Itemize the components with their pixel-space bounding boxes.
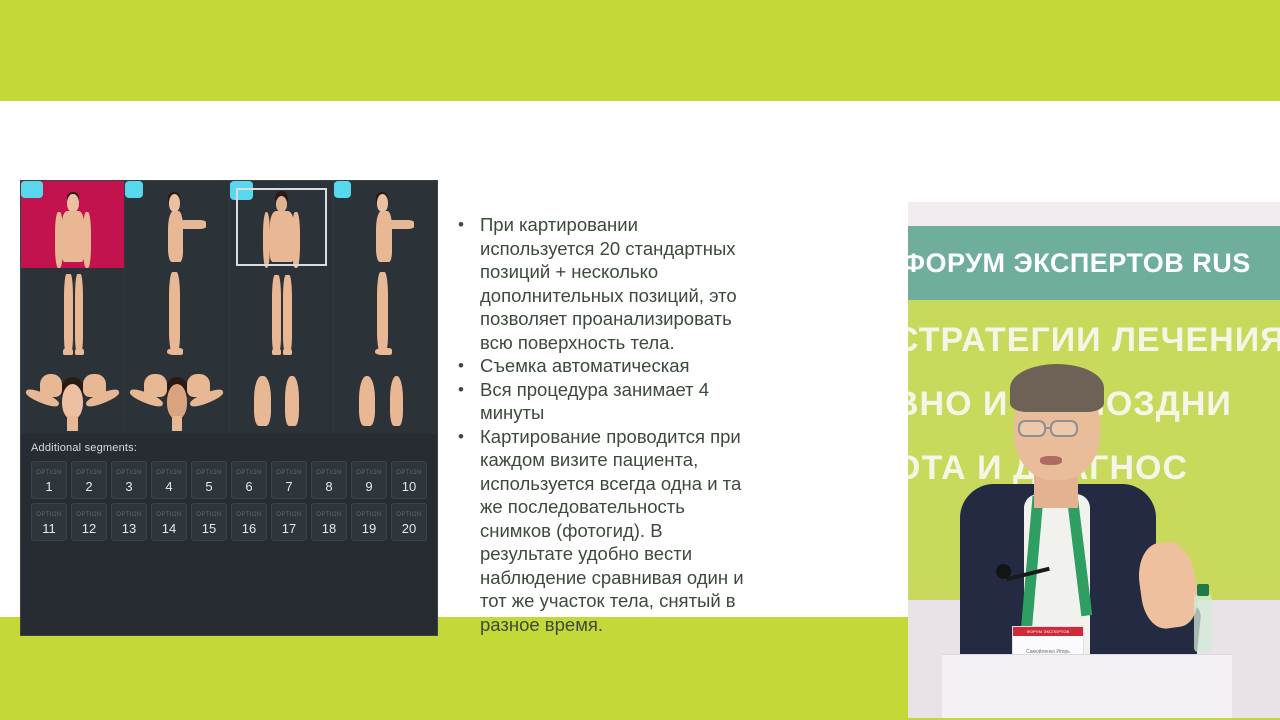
segment-number: 20 xyxy=(402,522,416,535)
segment-tile[interactable]: OPTION9 xyxy=(351,461,387,499)
slide-bullet-list: При картировании используется 20 стандар… xyxy=(452,213,752,636)
figure-hands-back xyxy=(125,366,228,434)
mouth-shape xyxy=(1040,456,1062,465)
head-shape xyxy=(377,194,388,213)
badge-header-strip: ФОРУМ ЭКСПЕРТОВ xyxy=(1013,627,1083,636)
neck-shape xyxy=(172,416,182,431)
additional-segments-title: Additional segments: xyxy=(31,442,427,454)
option-label: OPTION xyxy=(236,470,261,476)
torso-shape xyxy=(168,211,183,263)
hair-shape xyxy=(1010,364,1104,412)
bottle-cap xyxy=(1197,584,1209,596)
bullet-item: Съемка автоматическая xyxy=(452,354,752,378)
option-label: OPTION xyxy=(36,512,61,518)
left-leg-shape xyxy=(64,274,72,352)
video-frame: Additional segments: OPTION1 OPTION2 OPT… xyxy=(0,0,1280,720)
badge-strip-text: ФОРУМ ЭКСПЕРТОВ xyxy=(1013,627,1083,636)
figure-right-side xyxy=(334,181,437,366)
arm-shape xyxy=(387,220,414,229)
left-foot-shape xyxy=(390,376,403,426)
segment-tile[interactable]: OPTION3 xyxy=(111,461,147,499)
option-label: OPTION xyxy=(156,512,181,518)
right-leg-shape xyxy=(75,274,83,352)
left-palm-shape xyxy=(40,374,63,397)
segment-tile[interactable]: OPTION14 xyxy=(151,503,187,541)
option-label: OPTION xyxy=(196,470,221,476)
right-arm-shape xyxy=(83,212,91,268)
figure-hands-front xyxy=(21,366,124,434)
head-shape xyxy=(67,194,78,213)
podium xyxy=(942,654,1232,718)
left-foot-shape xyxy=(272,348,281,355)
hands-front-pose[interactable] xyxy=(21,366,125,434)
segment-tile[interactable]: OPTION20 xyxy=(391,503,427,541)
option-label: OPTION xyxy=(276,470,301,476)
segment-number: 1 xyxy=(45,480,52,493)
left-foot-shape xyxy=(63,348,72,355)
head-shape xyxy=(169,194,180,213)
segment-number: 15 xyxy=(202,522,216,535)
top-green-band xyxy=(0,0,1280,101)
segment-tile[interactable]: OPTION8 xyxy=(311,461,347,499)
head-shape xyxy=(62,384,83,419)
segment-number: 2 xyxy=(85,480,92,493)
figure-feet-back xyxy=(334,366,437,434)
segment-tile[interactable]: OPTION6 xyxy=(231,461,267,499)
option-label: OPTION xyxy=(276,512,301,518)
option-label: OPTION xyxy=(76,512,101,518)
segment-number: 8 xyxy=(325,480,332,493)
body-mapping-app[interactable]: Additional segments: OPTION1 OPTION2 OPT… xyxy=(20,180,438,636)
torso-shape xyxy=(376,211,391,263)
microphone-icon xyxy=(996,564,1011,579)
segment-number: 16 xyxy=(242,522,256,535)
segment-tile[interactable]: OPTION7 xyxy=(271,461,307,499)
segment-tile-grid: OPTION1 OPTION2 OPTION3 OPTION4 OPTION5 … xyxy=(31,461,427,541)
segment-number: 14 xyxy=(162,522,176,535)
leg-shape xyxy=(377,272,388,352)
pose-row-full-body xyxy=(21,181,437,366)
segment-tile[interactable]: OPTION13 xyxy=(111,503,147,541)
glasses-bridge xyxy=(1046,427,1052,429)
water-bottle xyxy=(1194,594,1212,652)
left-foot-shape xyxy=(254,376,271,426)
left-arm-shape xyxy=(55,212,63,268)
speaker-video-panel: ФОРУМ ЭКСПЕРТОВ RUS СТРАТЕГИИ ЛЕЧЕНИЯ ВН… xyxy=(908,202,1280,718)
pose-row-extremities xyxy=(21,366,437,434)
segment-number: 3 xyxy=(125,480,132,493)
segment-tile[interactable]: OPTION1 xyxy=(31,461,67,499)
figure-front xyxy=(21,181,124,366)
banner-forum-title: ФОРУМ ЭКСПЕРТОВ RUS xyxy=(908,248,1251,279)
bullet-item: Вся процедура занимает 4 минуты xyxy=(452,378,752,425)
torso-shape xyxy=(62,211,84,263)
segment-tile[interactable]: OPTION17 xyxy=(271,503,307,541)
segment-number: 19 xyxy=(362,522,376,535)
briefs-shape xyxy=(334,181,352,198)
option-label: OPTION xyxy=(316,470,341,476)
option-label: OPTION xyxy=(76,470,101,476)
segment-tile[interactable]: OPTION5 xyxy=(191,461,227,499)
additional-segments-panel: Additional segments: OPTION1 OPTION2 OPT… xyxy=(21,434,437,551)
segment-tile[interactable]: OPTION12 xyxy=(71,503,107,541)
segment-tile[interactable]: OPTION16 xyxy=(231,503,267,541)
briefs-shape xyxy=(125,181,143,198)
segment-number: 10 xyxy=(402,480,416,493)
bullet-item: Картирование проводится при каждом визит… xyxy=(452,425,752,637)
option-label: OPTION xyxy=(396,470,421,476)
option-label: OPTION xyxy=(36,470,61,476)
segment-number: 5 xyxy=(205,480,212,493)
right-foot-shape xyxy=(75,348,84,355)
feet-front-pose[interactable] xyxy=(230,366,334,434)
leg-shape xyxy=(169,272,180,352)
segment-tile[interactable]: OPTION18 xyxy=(311,503,347,541)
head-shape xyxy=(167,384,188,419)
segment-number: 13 xyxy=(122,522,136,535)
option-label: OPTION xyxy=(236,512,261,518)
segment-number: 11 xyxy=(42,522,56,535)
segment-tile[interactable]: OPTION11 xyxy=(31,503,67,541)
figure-left-side xyxy=(125,181,228,366)
figure-feet-front xyxy=(230,366,333,434)
option-label: OPTION xyxy=(116,512,141,518)
option-label: OPTION xyxy=(396,512,421,518)
hands-back-pose[interactable] xyxy=(125,366,229,434)
segment-number: 7 xyxy=(285,480,292,493)
left-palm-shape xyxy=(144,374,167,397)
segment-tile[interactable]: OPTION19 xyxy=(351,503,387,541)
option-label: OPTION xyxy=(356,512,381,518)
segment-number: 12 xyxy=(82,522,96,535)
bullet-item: При картировании используется 20 стандар… xyxy=(452,213,752,354)
option-label: OPTION xyxy=(156,470,181,476)
selection-box[interactable] xyxy=(236,188,327,266)
neck-shape xyxy=(67,416,77,431)
option-label: OPTION xyxy=(116,470,141,476)
segment-tile[interactable]: OPTION15 xyxy=(191,503,227,541)
glasses-left-lens xyxy=(1018,420,1046,437)
left-side-body-pose[interactable] xyxy=(125,181,229,366)
front-body-pose[interactable] xyxy=(21,181,125,366)
segment-number: 6 xyxy=(245,480,252,493)
banner-teal-strip: ФОРУМ ЭКСПЕРТОВ RUS xyxy=(908,226,1280,300)
right-leg-shape xyxy=(283,275,292,351)
option-label: OPTION xyxy=(316,512,341,518)
briefs-shape xyxy=(21,181,43,198)
segment-number: 17 xyxy=(282,522,296,535)
arm-shape xyxy=(179,220,206,229)
right-side-body-pose[interactable] xyxy=(334,181,437,366)
foot-shape xyxy=(167,348,184,355)
segment-number: 4 xyxy=(165,480,172,493)
wall-top xyxy=(908,202,1280,226)
option-label: OPTION xyxy=(196,512,221,518)
right-palm-shape xyxy=(187,374,210,397)
feet-back-pose[interactable] xyxy=(334,366,437,434)
presentation-slide: Additional segments: OPTION1 OPTION2 OPT… xyxy=(0,101,1280,617)
left-leg-shape xyxy=(272,275,281,351)
segment-tile[interactable]: OPTION4 xyxy=(151,461,187,499)
right-foot-shape xyxy=(285,376,298,426)
glasses-right-lens xyxy=(1050,420,1078,437)
right-foot-shape xyxy=(359,376,376,426)
segment-number: 9 xyxy=(365,480,372,493)
segment-tile[interactable]: OPTION2 xyxy=(71,461,107,499)
foot-shape xyxy=(375,348,392,355)
right-foot-shape xyxy=(283,348,292,355)
option-label: OPTION xyxy=(356,470,381,476)
right-palm-shape xyxy=(83,374,106,397)
segment-number: 18 xyxy=(322,522,336,535)
back-body-pose[interactable] xyxy=(230,181,334,366)
segment-tile[interactable]: OPTION10 xyxy=(391,461,427,499)
